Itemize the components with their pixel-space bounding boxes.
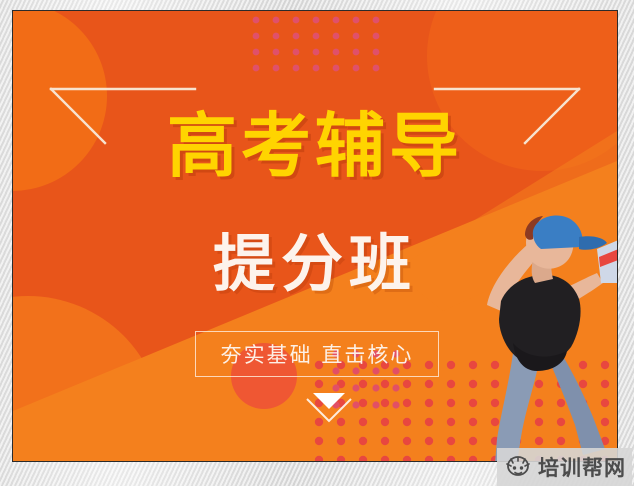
tagline-box: 夯实基础 直击核心 bbox=[195, 331, 439, 377]
sun-face-logo-icon bbox=[505, 455, 531, 479]
tagline-text: 夯实基础 直击核心 bbox=[221, 339, 414, 369]
page-title: 高考辅导 bbox=[13, 111, 617, 181]
cap-icon bbox=[533, 216, 607, 250]
chevron-down-icon[interactable] bbox=[301, 387, 357, 427]
poster-frame: 高考辅导 提分班 夯实基础 直击核心 bbox=[0, 0, 634, 486]
jumping-student-illustration bbox=[441, 187, 617, 461]
poster-artboard: 高考辅导 提分班 夯实基础 直击核心 bbox=[12, 10, 618, 462]
watermark: 培训帮网 bbox=[497, 448, 632, 486]
watermark-text: 培训帮网 bbox=[538, 452, 626, 482]
poster-canvas: 高考辅导 提分班 夯实基础 直击核心 bbox=[13, 11, 617, 461]
